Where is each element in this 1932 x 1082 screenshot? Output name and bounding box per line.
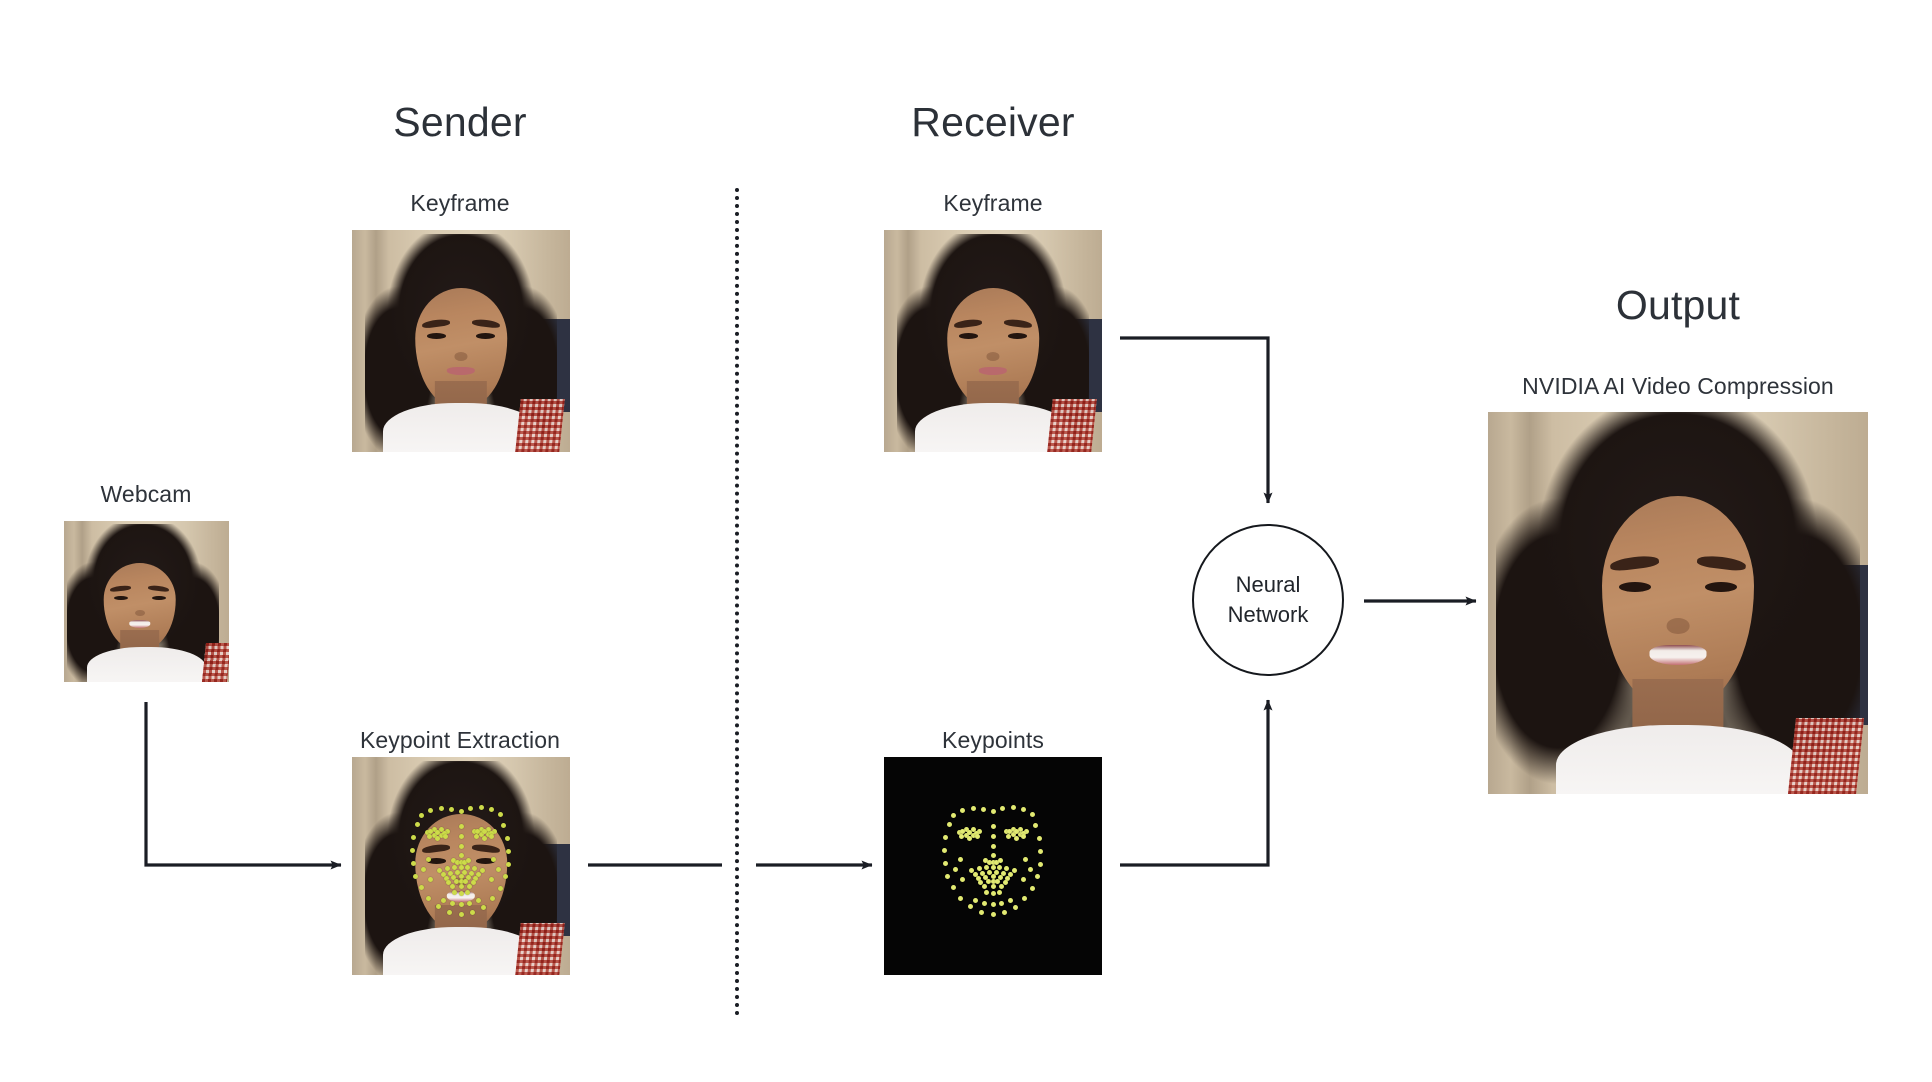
keypoint-dot xyxy=(991,834,996,839)
keypoint-dot xyxy=(459,834,464,839)
keypoint-dot xyxy=(943,835,948,840)
neural-network-node[interactable]: Neural Network xyxy=(1192,524,1344,676)
keypoint-dot xyxy=(447,910,452,915)
keypoint-dot xyxy=(945,874,950,879)
keypoint-dot xyxy=(997,890,1002,895)
neural-network-label-line1: Neural xyxy=(1236,570,1301,600)
keypoint-dot xyxy=(468,806,473,811)
keypoint-dot xyxy=(443,834,448,839)
keypoint-dot xyxy=(1021,834,1026,839)
keypoint-dot xyxy=(452,865,457,870)
keypoint-dot xyxy=(415,822,420,827)
panel-label-webcam: Webcam xyxy=(101,481,192,508)
panel-label-output: NVIDIA AI Video Compression xyxy=(1522,373,1834,400)
keypoint-dot xyxy=(501,823,506,828)
keypoint-dot xyxy=(489,834,494,839)
output-image[interactable] xyxy=(1488,412,1868,794)
keypoint-dot xyxy=(470,910,475,915)
keypoint-dot xyxy=(476,898,481,903)
keypoint-dot xyxy=(471,880,476,885)
keypoint-dot xyxy=(999,901,1004,906)
portrait-photo xyxy=(884,230,1102,452)
keypoint-dot xyxy=(973,898,978,903)
keypoint-dot xyxy=(459,853,464,858)
keypoint-dot xyxy=(465,865,470,870)
keypoint-dot xyxy=(459,844,464,849)
keypoint-dot xyxy=(459,884,464,889)
keypoint-dot xyxy=(505,836,510,841)
keypoint-dot xyxy=(426,896,431,901)
keypoint-dot xyxy=(991,809,996,814)
keypoint-dot xyxy=(1011,805,1016,810)
keypoint-dot xyxy=(428,877,433,882)
keypoint-dot xyxy=(967,836,972,841)
edge-keypoints-to-neural-network xyxy=(1120,700,1268,865)
edge-webcam-to-keypoint-extraction xyxy=(146,702,341,865)
keypoints-image[interactable] xyxy=(884,757,1102,975)
keypoint-dot xyxy=(951,885,956,890)
keypoint-dot xyxy=(413,874,418,879)
section-title-receiver: Receiver xyxy=(911,99,1074,146)
keypoint-dot xyxy=(958,896,963,901)
keypoint-dot xyxy=(435,836,440,841)
keypoint-dot xyxy=(984,865,989,870)
keypoint-dot xyxy=(991,891,996,896)
keypoint-dot xyxy=(1037,836,1042,841)
keypoint-dot xyxy=(991,853,996,858)
keypoint-dot xyxy=(489,807,494,812)
keypoint-dot xyxy=(454,879,459,884)
keypoint-dot xyxy=(441,898,446,903)
keypoint-dot xyxy=(427,834,432,839)
edge-receiver-keyframe-to-neural-network xyxy=(1120,338,1268,503)
facial-keypoint-overlay xyxy=(352,757,570,975)
keypoint-dot xyxy=(951,813,956,818)
keypoint-dot xyxy=(450,884,455,889)
panel-label-keypoints: Keypoints xyxy=(942,727,1044,754)
receiver-keyframe-image[interactable] xyxy=(884,230,1102,452)
keypoint-dot xyxy=(439,806,444,811)
keypoint-cloud xyxy=(884,757,1102,975)
keypoint-dot xyxy=(971,806,976,811)
keypoint-dot xyxy=(1022,896,1027,901)
keypoint-dot xyxy=(979,910,984,915)
keypoint-dot xyxy=(472,866,477,871)
keypoint-dot xyxy=(991,844,996,849)
panel-label-sender-keyframe: Keyframe xyxy=(410,190,509,217)
keypoint-dot xyxy=(942,848,947,853)
keypoint-dot xyxy=(489,877,494,882)
keypoint-dot xyxy=(968,904,973,909)
keypoint-dot xyxy=(1000,806,1005,811)
section-title-sender: Sender xyxy=(393,99,526,146)
portrait-photo xyxy=(64,521,229,682)
keypoint-dot xyxy=(998,858,1003,863)
keypoint-dot xyxy=(459,912,464,917)
keypoint-dot xyxy=(975,834,980,839)
keypoint-dot xyxy=(421,867,426,872)
keypoint-dot xyxy=(1035,874,1040,879)
keypoint-dot xyxy=(450,901,455,906)
keypoint-dot xyxy=(498,886,503,891)
keypoint-dot xyxy=(1014,836,1019,841)
keypoint-dot xyxy=(506,849,511,854)
keypoint-dot xyxy=(496,867,501,872)
panel-label-keypoint-extraction: Keypoint Extraction xyxy=(360,727,560,754)
panel-label-receiver-keyframe: Keyframe xyxy=(943,190,1042,217)
keypoint-dot xyxy=(459,891,464,896)
keypoint-dot xyxy=(419,813,424,818)
keypoint-dot xyxy=(435,830,440,835)
keypoint-dot xyxy=(479,805,484,810)
keypoint-dot xyxy=(1023,857,1028,862)
keypoint-dot xyxy=(1008,898,1013,903)
keypoint-dot xyxy=(1038,862,1043,867)
keypoint-dot xyxy=(498,812,503,817)
sender-receiver-divider xyxy=(735,188,739,1016)
sender-keyframe-image[interactable] xyxy=(352,230,570,452)
keypoint-dot xyxy=(506,862,511,867)
keypoint-dot xyxy=(1028,867,1033,872)
keypoint-dot xyxy=(997,865,1002,870)
keypoint-dot xyxy=(449,807,454,812)
keypoint-dot xyxy=(452,890,457,895)
keypoint-dot xyxy=(959,834,964,839)
keypoint-dot xyxy=(419,885,424,890)
keypoint-dot xyxy=(459,902,464,907)
keypoint-dot xyxy=(1030,886,1035,891)
keypoint-dot xyxy=(1021,877,1026,882)
keypoint-dot xyxy=(465,890,470,895)
keypoint-dot xyxy=(991,912,996,917)
keypoint-dot xyxy=(1002,910,1007,915)
keypoint-dot xyxy=(960,877,965,882)
keypoint-dot xyxy=(481,905,486,910)
keypoint-dot xyxy=(467,901,472,906)
webcam-image[interactable] xyxy=(64,521,229,682)
keypoint-dot xyxy=(991,884,996,889)
keypoint-dot xyxy=(1021,807,1026,812)
keypoint-dot xyxy=(411,861,416,866)
keypoint-dot xyxy=(482,836,487,841)
keypoint-dot xyxy=(967,830,972,835)
keypoint-dot xyxy=(1003,880,1008,885)
keypoint-dot xyxy=(1030,812,1035,817)
keypoint-dot xyxy=(1004,866,1009,871)
keypoint-dot xyxy=(490,896,495,901)
keypoint-dot xyxy=(410,848,415,853)
keypoint-dot xyxy=(986,879,991,884)
keypoint-dot xyxy=(1038,849,1043,854)
keypoint-dot xyxy=(1033,823,1038,828)
keypoint-dot xyxy=(982,901,987,906)
keypoint-dot xyxy=(459,824,464,829)
keypoint-dot xyxy=(981,807,986,812)
keypoint-dot xyxy=(977,866,982,871)
portrait-photo xyxy=(1488,412,1868,794)
keypoint-dot xyxy=(467,884,472,889)
section-title-output: Output xyxy=(1616,282,1740,329)
keypoint-dot xyxy=(984,890,989,895)
keypoint-extraction-image[interactable] xyxy=(352,757,570,975)
keypoint-dot xyxy=(958,857,963,862)
keypoint-dot xyxy=(960,808,965,813)
keypoint-dot xyxy=(947,822,952,827)
keypoint-dot xyxy=(436,904,441,909)
neural-network-label-line2: Network xyxy=(1228,600,1309,630)
keypoint-dot xyxy=(411,835,416,840)
keypoint-dot xyxy=(466,858,471,863)
keypoint-dot xyxy=(991,902,996,907)
keypoint-dot xyxy=(1013,905,1018,910)
diagram-canvas: Sender Receiver Output Keyframe Webcam xyxy=(0,0,1932,1082)
keypoint-dot xyxy=(943,861,948,866)
keypoint-dot xyxy=(426,857,431,862)
keypoint-dot xyxy=(953,867,958,872)
keypoint-dot xyxy=(991,824,996,829)
keypoint-dot xyxy=(982,884,987,889)
keypoint-dot xyxy=(445,866,450,871)
portrait-photo xyxy=(352,230,570,452)
keypoint-dot xyxy=(999,884,1004,889)
keypoint-dot xyxy=(491,857,496,862)
keypoint-dot xyxy=(428,808,433,813)
keypoint-dot xyxy=(1006,834,1011,839)
keypoint-dot xyxy=(459,809,464,814)
keypoint-dot xyxy=(474,834,479,839)
keypoint-dot xyxy=(503,874,508,879)
